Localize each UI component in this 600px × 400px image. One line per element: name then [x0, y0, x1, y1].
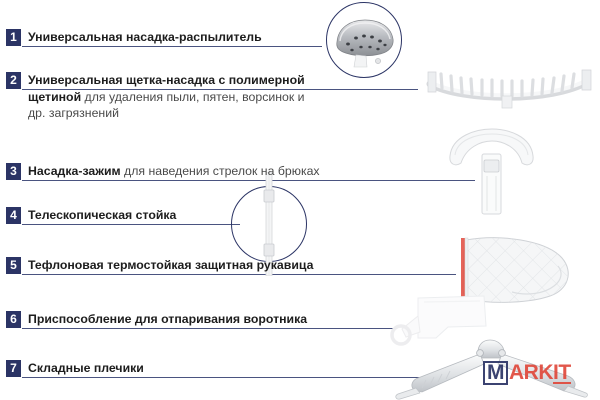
watermark-text-it: IT — [553, 363, 571, 384]
clip-attachment-icon — [442, 126, 540, 218]
list-item-1: 1 Универсальная насадка-распылитель — [6, 29, 318, 46]
watermark-letter-m: M — [483, 361, 508, 385]
watermark-markit: MARKIT — [483, 361, 571, 385]
badge-number-2: 2 — [6, 72, 21, 89]
rule-item-4 — [22, 224, 240, 225]
list-item-5: 5 Тефлоновая термостойкая защитная рукав… — [6, 257, 446, 274]
list-item-2-text: Универсальная щетка-насадка с полимерной… — [28, 72, 318, 122]
badge-number-4: 4 — [6, 207, 21, 224]
badge-number-3: 3 — [6, 163, 21, 180]
list-item-1-bold: Универсальная насадка-распылитель — [28, 30, 262, 44]
list-item-4-bold: Телескопическая стойка — [28, 208, 176, 222]
list-item-6-text: Приспособление для отпаривания воротника — [28, 311, 307, 328]
watermark-text-ark: ARK — [509, 361, 553, 385]
badge-number-5: 5 — [6, 257, 21, 274]
list-item-4-text: Телескопическая стойка — [28, 207, 176, 224]
list-item-5-text: Тефлоновая термостойкая защитная рукавиц… — [28, 257, 313, 274]
badge-number-7: 7 — [6, 360, 21, 377]
rule-item-1 — [22, 46, 322, 47]
rule-item-6 — [22, 328, 394, 329]
infographic-page: 1 Универсальная насадка-распылитель 2 Ун… — [0, 0, 600, 400]
list-item-5-bold: Тефлоновая термостойкая защитная рукавиц… — [28, 258, 313, 272]
list-item-2: 2 Универсальная щетка-насадка с полимерн… — [6, 72, 318, 122]
list-item-7: 7 Складные плечики — [6, 360, 306, 377]
rule-item-3 — [22, 180, 475, 181]
brush-attachment-icon — [424, 62, 594, 110]
list-item-3-text: Насадка-зажим для наведения стрелок на б… — [28, 163, 320, 180]
rule-item-7 — [22, 377, 420, 378]
rule-item-5 — [22, 274, 456, 275]
list-item-6: 6 Приспособление для отпаривания воротни… — [6, 311, 396, 328]
list-item-3: 3 Насадка-зажим для наведения стрелок на… — [6, 163, 426, 180]
list-item-4: 4 Телескопическая стойка — [6, 207, 226, 224]
spray-nozzle-icon — [334, 14, 396, 68]
list-item-7-text: Складные плечики — [28, 360, 144, 377]
badge-number-6: 6 — [6, 311, 21, 328]
list-item-7-bold: Складные плечики — [28, 361, 144, 375]
list-item-6-bold: Приспособление для отпаривания воротника — [28, 312, 307, 326]
list-item-3-normal: для наведения стрелок на брюках — [121, 164, 320, 178]
badge-number-1: 1 — [6, 29, 21, 46]
list-item-3-bold: Насадка-зажим — [28, 164, 121, 178]
list-item-1-text: Универсальная насадка-распылитель — [28, 29, 262, 46]
